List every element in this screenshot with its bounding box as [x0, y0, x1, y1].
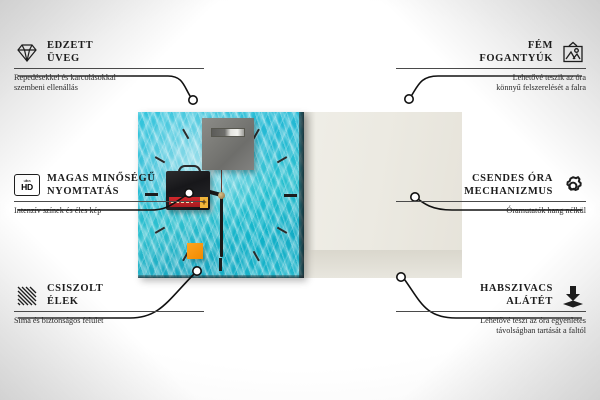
floor-strip — [300, 250, 462, 278]
infographic-canvas: + — [0, 0, 600, 400]
gear-icon — [560, 174, 586, 198]
callout-description: Repedésekkel és karcolásokkal szembeni e… — [14, 73, 204, 93]
callout-description: Lehetővé teszi az óra egyenletes távolsá… — [396, 316, 586, 336]
glass-edge — [299, 112, 304, 278]
polished-edge-icon — [14, 284, 40, 308]
metal-hanger-plate — [202, 118, 254, 170]
hand-cap-nut — [218, 192, 225, 199]
picture-hanger-icon — [560, 41, 586, 65]
callout-title: EDZETT ÜVEG — [47, 40, 93, 65]
callout-description: Óramutatók hang nélkül — [396, 206, 586, 216]
ultra-hd-icon: ultra HD — [14, 174, 40, 198]
diamond-icon — [14, 41, 40, 65]
callout-description: Lehetővé teszik az óra könnyű felszerelé… — [396, 73, 586, 93]
callout-title: CSENDES ÓRA MECHANIZMUS — [464, 173, 553, 198]
divider — [396, 201, 586, 202]
callout-foam-pad: HABSZIVACS ALÁTÉT Lehetővé teszi az óra … — [396, 283, 586, 336]
divider — [14, 68, 204, 69]
callout-title: FÉM FOGANTYÚK — [479, 40, 553, 65]
minute-hand — [220, 195, 223, 257]
callout-title: HABSZIVACS ALÁTÉT — [480, 283, 553, 308]
callout-title: MAGAS MINŐSÉGŰ NYOMTATÁS — [47, 173, 155, 198]
callout-description: Intenzív színek és éles kép — [14, 206, 204, 216]
glass-bottom-edge — [138, 275, 304, 278]
callout-tempered-glass: EDZETT ÜVEG Repedésekkel és karcolásokka… — [14, 40, 204, 93]
callout-description: Sima és biztonságos felület — [14, 316, 204, 326]
callout-silent-mechanism: CSENDES ÓRA MECHANIZMUS Óramutatók hang … — [396, 173, 586, 216]
divider — [396, 311, 586, 312]
divider — [14, 201, 204, 202]
foam-spacer-pad — [187, 243, 203, 259]
divider — [14, 311, 204, 312]
down-arrow-pad-icon — [560, 284, 586, 308]
callout-polished-edges: CSISZOLT ÉLEK Sima és biztonságos felüle… — [14, 283, 204, 326]
callout-high-quality-print: ultra HD MAGAS MINŐSÉGŰ NYOMTATÁS Intenz… — [14, 173, 204, 216]
divider — [396, 68, 586, 69]
hanger-slot — [211, 128, 245, 137]
callout-metal-handles: FÉM FOGANTYÚK Lehetővé teszik az ó — [396, 40, 586, 93]
callout-title: CSISZOLT ÉLEK — [47, 283, 103, 308]
